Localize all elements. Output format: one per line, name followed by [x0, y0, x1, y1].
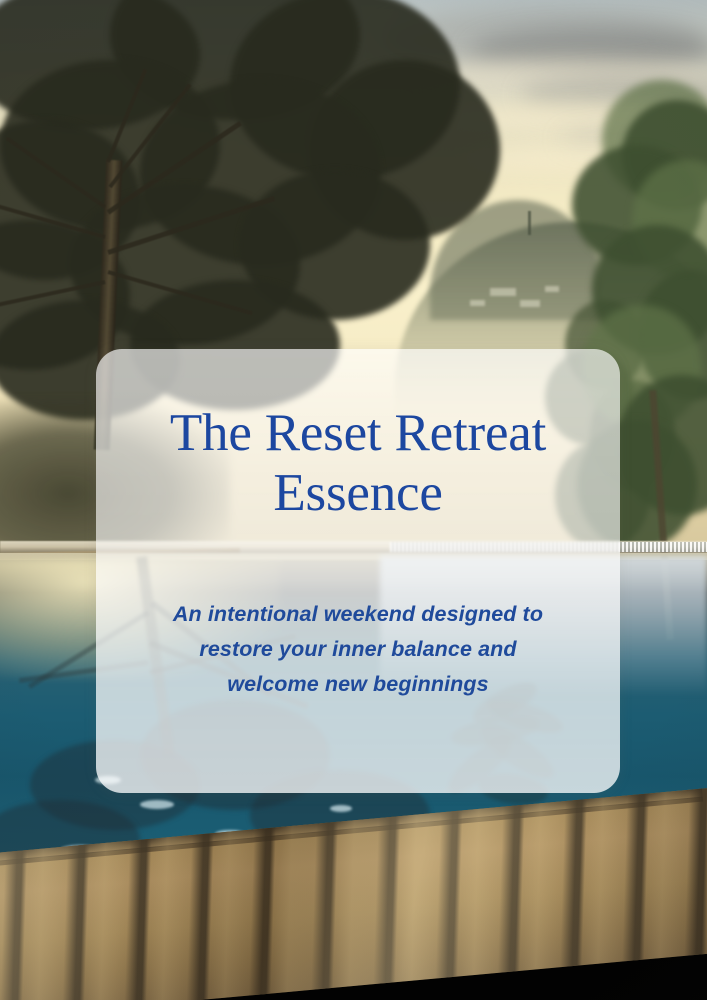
subtitle-line-2: restore your inner balance and: [130, 632, 586, 667]
hillside-building: [520, 300, 540, 307]
title-line-1: The Reset Retreat: [96, 404, 620, 464]
page-title: The Reset Retreat Essence: [96, 404, 620, 524]
page-subtitle: An intentional weekend designed to resto…: [130, 597, 586, 701]
subtitle-line-1: An intentional weekend designed to: [130, 597, 586, 632]
title-line-2: Essence: [96, 464, 620, 524]
content-card: The Reset Retreat Essence An intentional…: [96, 349, 620, 793]
hilltop-spire: [528, 211, 531, 235]
subtitle-line-3: welcome new beginnings: [130, 667, 586, 702]
poster-canvas: The Reset Retreat Essence An intentional…: [0, 0, 707, 1000]
